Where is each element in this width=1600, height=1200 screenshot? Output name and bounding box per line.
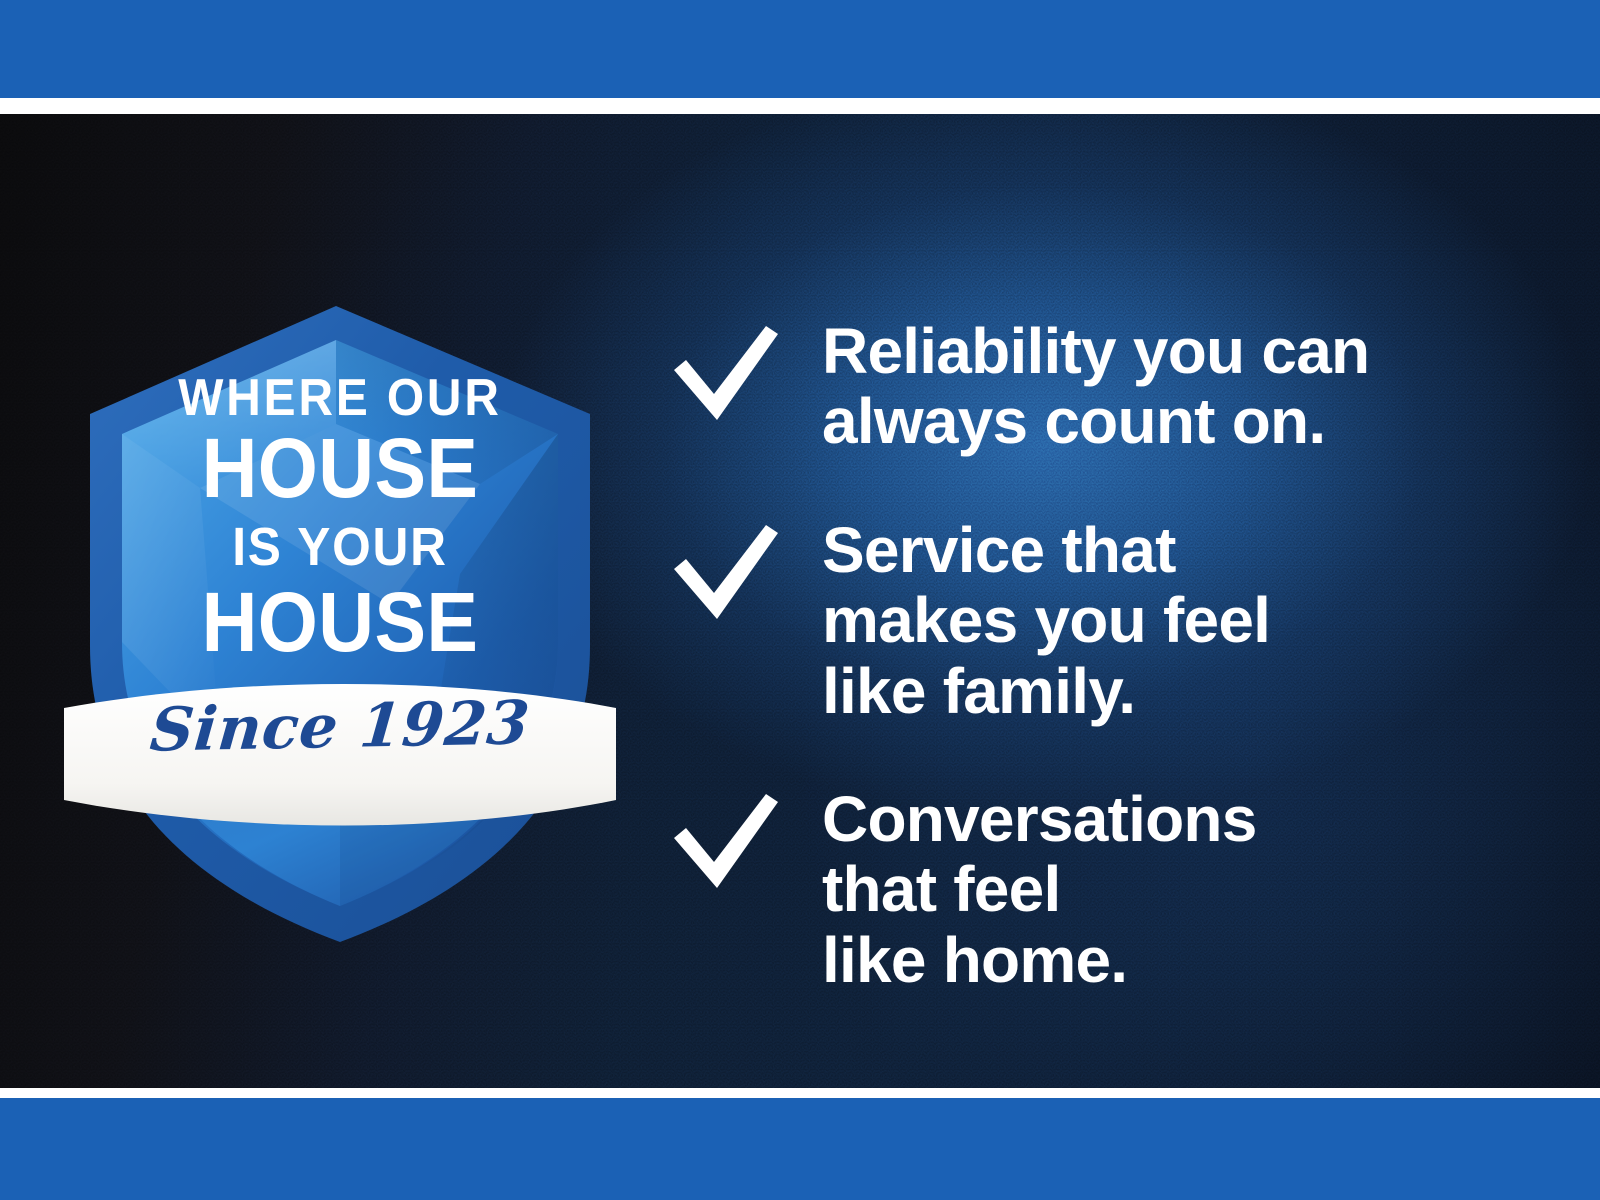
benefit-text: Conversations that feel like home. xyxy=(822,782,1550,995)
benefits-list: Reliability you can always count on. Ser… xyxy=(670,314,1550,995)
poster-canvas: WHERE OUR HOUSE IS YOUR HOUSE Since 1923… xyxy=(0,114,1600,1088)
shield-ribbon xyxy=(64,684,616,826)
checkmark-icon xyxy=(670,521,780,625)
shield-badge: WHERE OUR HOUSE IS YOUR HOUSE Since 1923 xyxy=(60,274,620,954)
bottom-brand-bar xyxy=(0,1098,1600,1200)
top-brand-bar xyxy=(0,0,1600,98)
checkmark-icon xyxy=(670,322,780,426)
checkmark-icon xyxy=(670,790,780,894)
list-item: Conversations that feel like home. xyxy=(670,782,1550,995)
list-item: Service that makes you feel like family. xyxy=(670,513,1550,726)
list-item: Reliability you can always count on. xyxy=(670,314,1550,457)
benefit-text: Reliability you can always count on. xyxy=(822,314,1550,457)
benefit-text: Service that makes you feel like family. xyxy=(822,513,1550,726)
promo-poster: WHERE OUR HOUSE IS YOUR HOUSE Since 1923… xyxy=(0,0,1600,1200)
